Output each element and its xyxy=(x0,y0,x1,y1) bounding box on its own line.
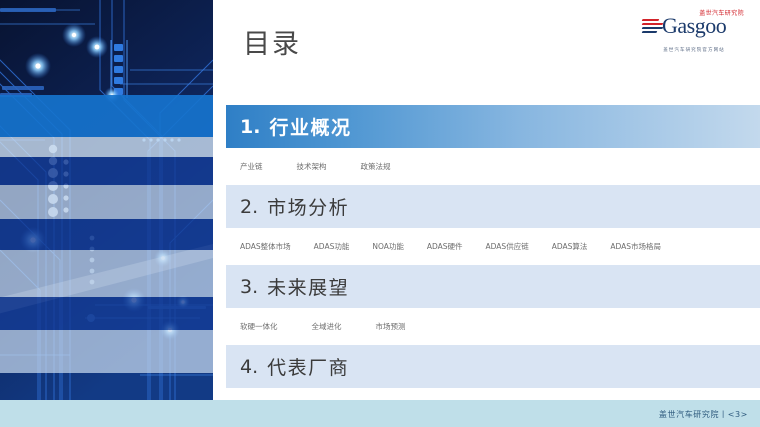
table-of-contents: 1. 行业概况 产业链 技术架构 政策法规 2. 市场分析 ADAS整体市场 A… xyxy=(226,105,760,425)
toc-entry-1[interactable]: 1. 行业概况 产业链 技术架构 政策法规 xyxy=(226,105,760,185)
toc-subitem[interactable]: ADAS市场格局 xyxy=(610,241,661,252)
toc-subitem[interactable]: 产业链 xyxy=(240,161,263,172)
decorative-tech-graphic xyxy=(0,0,213,400)
toc-heading-1[interactable]: 1. 行业概况 xyxy=(226,105,760,148)
toc-subitem[interactable]: 市场预测 xyxy=(376,321,406,332)
toc-subitem[interactable]: ADAS供应链 xyxy=(486,241,529,252)
toc-number-3: 3. xyxy=(240,276,258,298)
logo-wordmark: Gasgoo xyxy=(662,15,726,37)
toc-label-3: 未来展望 xyxy=(267,273,349,300)
toc-number-1: 1. xyxy=(240,116,260,138)
toc-label-2: 市场分析 xyxy=(267,193,349,220)
toc-entry-2[interactable]: 2. 市场分析 ADAS整体市场 ADAS功能 NOA功能 ADAS硬件 ADA… xyxy=(226,185,760,265)
gasgoo-logo: 盖世汽车研究院 Gasgoo 盖世汽车研究院官方网站 xyxy=(642,7,746,53)
footer-bar: 盖世汽车研究院丨<3> xyxy=(0,400,760,427)
toc-heading-2[interactable]: 2. 市场分析 xyxy=(226,185,760,228)
toc-subitems-2: ADAS整体市场 ADAS功能 NOA功能 ADAS硬件 ADAS供应链 ADA… xyxy=(226,228,760,265)
toc-subitems-3: 软硬一体化 全域进化 市场预测 xyxy=(226,308,760,345)
toc-heading-3[interactable]: 3. 未来展望 xyxy=(226,265,760,308)
toc-heading-4[interactable]: 4. 代表厂商 xyxy=(226,345,760,388)
toc-subitems-1: 产业链 技术架构 政策法规 xyxy=(226,148,760,185)
slide-canvas: 目录 盖世汽车研究院 Gasgoo 盖世汽车研究院官方网站 1. 行业概况 产业… xyxy=(0,0,760,427)
toc-subitem[interactable]: NOA功能 xyxy=(372,241,404,252)
left-gutter xyxy=(213,0,226,400)
toc-label-4: 代表厂商 xyxy=(267,353,349,380)
toc-subitem[interactable]: ADAS功能 xyxy=(314,241,350,252)
toc-number-2: 2. xyxy=(240,196,258,218)
toc-subitem[interactable]: ADAS硬件 xyxy=(427,241,463,252)
toc-subitem[interactable]: 软硬一体化 xyxy=(240,321,278,332)
page-title: 目录 xyxy=(243,22,301,61)
toc-subitem[interactable]: ADAS算法 xyxy=(552,241,588,252)
toc-subitem[interactable]: 技术架构 xyxy=(297,161,327,172)
toc-subitem[interactable]: 全域进化 xyxy=(312,321,342,332)
circuit-artwork xyxy=(0,0,213,400)
toc-number-4: 4. xyxy=(240,356,258,378)
logo-subtitle: 盖世汽车研究院官方网站 xyxy=(642,47,746,53)
toc-label-1: 行业概况 xyxy=(269,113,351,140)
toc-subitem[interactable]: ADAS整体市场 xyxy=(240,241,291,252)
toc-entry-3[interactable]: 3. 未来展望 软硬一体化 全域进化 市场预测 xyxy=(226,265,760,345)
toc-subitem[interactable]: 政策法规 xyxy=(361,161,391,172)
footer-text: 盖世汽车研究院丨<3> xyxy=(659,409,748,420)
